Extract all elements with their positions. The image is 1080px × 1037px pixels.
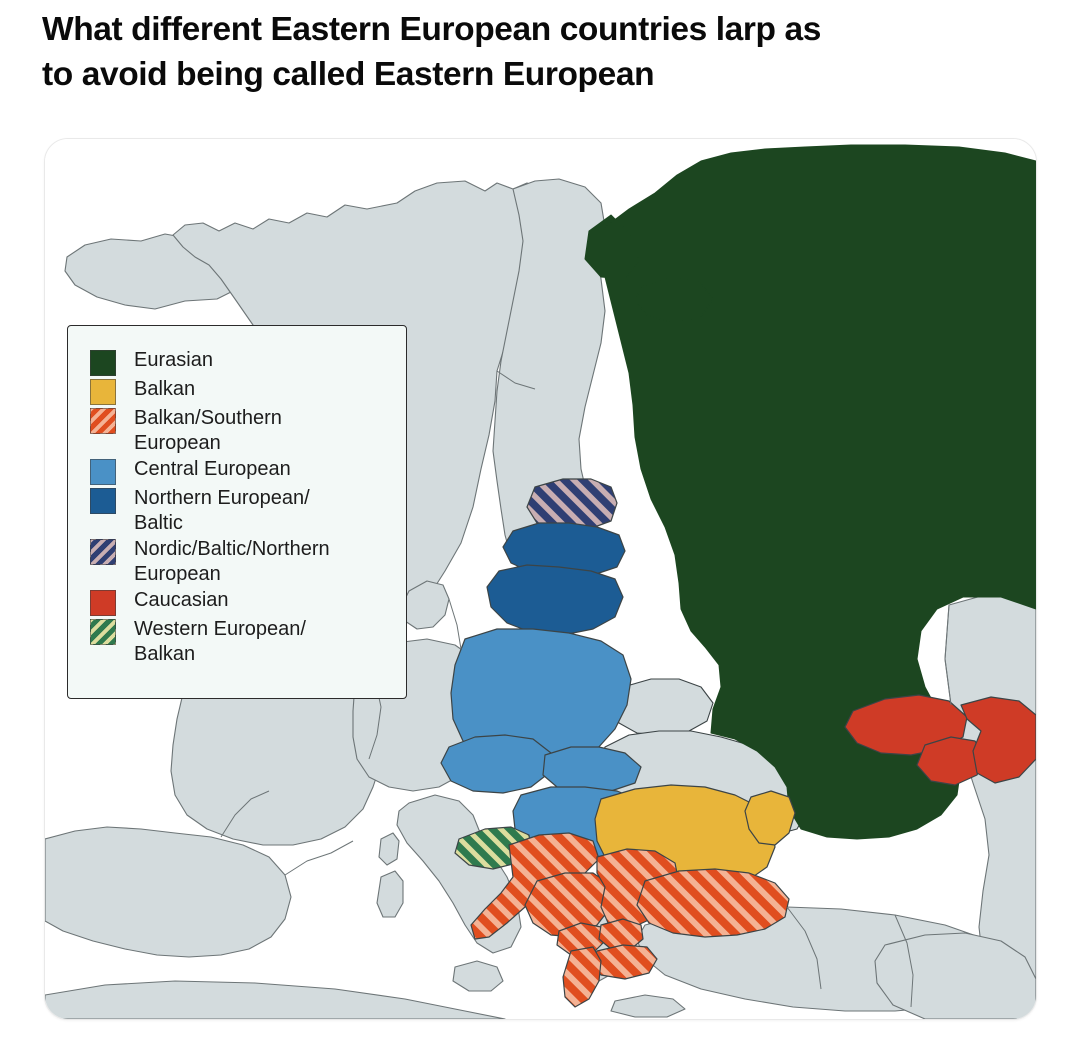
legend-item[interactable]: Eurasian xyxy=(90,348,392,376)
title-block: What different Eastern European countrie… xyxy=(42,8,1042,97)
legend-swatch-balkan-southern-european xyxy=(90,408,116,434)
map-region-kosovo[interactable] xyxy=(599,919,643,949)
legend-swatch-balkan xyxy=(90,379,116,405)
map-region-estonia[interactable] xyxy=(527,479,617,529)
legend-label: Balkan/Southern European xyxy=(134,406,282,456)
map-region-bulgaria[interactable] xyxy=(637,869,789,937)
legend-item[interactable]: Balkan xyxy=(90,377,392,405)
legend-item[interactable]: Northern European/ Baltic xyxy=(90,486,392,536)
legend-swatch-central-european xyxy=(90,459,116,485)
legend-swatch-western-european-balkan xyxy=(90,619,116,645)
legend-label: Eurasian xyxy=(134,348,213,373)
map-region-czechia[interactable] xyxy=(441,735,551,793)
legend-swatch-caucasian xyxy=(90,590,116,616)
legend-label: Northern European/ Baltic xyxy=(134,486,310,536)
legend-label: Nordic/Baltic/Northern European xyxy=(134,537,330,587)
page-title: What different Eastern European countrie… xyxy=(42,8,1042,97)
legend-label: Caucasian xyxy=(134,588,229,613)
legend-swatch-northern-european-baltic xyxy=(90,488,116,514)
legend-swatch-eurasian xyxy=(90,350,116,376)
legend-swatch-nordic-baltic-northern-european xyxy=(90,539,116,565)
legend-item[interactable]: Nordic/Baltic/Northern European xyxy=(90,537,392,587)
legend-label: Western European/ Balkan xyxy=(134,617,306,667)
map-region-slovakia[interactable] xyxy=(543,747,641,793)
region-sardinia xyxy=(377,871,403,917)
legend-item[interactable]: Caucasian xyxy=(90,588,392,616)
europe-choropleth-card[interactable]: Eurasian Balkan Balkan/Southern European… xyxy=(44,138,1037,1020)
legend-label: Balkan xyxy=(134,377,195,402)
legend-item[interactable]: Western European/ Balkan xyxy=(90,617,392,667)
legend-item[interactable]: Central European xyxy=(90,457,392,485)
map-legend: Eurasian Balkan Balkan/Southern European… xyxy=(67,325,407,699)
legend-label: Central European xyxy=(134,457,291,482)
legend-item[interactable]: Balkan/Southern European xyxy=(90,406,392,456)
